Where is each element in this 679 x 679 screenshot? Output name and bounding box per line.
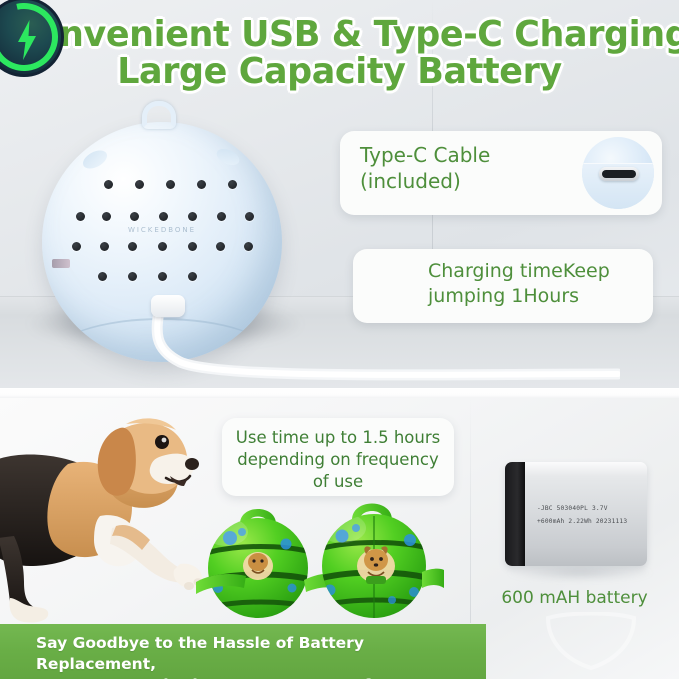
ball-hole <box>159 212 168 221</box>
section-divider <box>0 388 679 398</box>
lightning-bolt-glyph <box>15 20 39 60</box>
cable-plug <box>151 295 185 317</box>
ball-hole <box>98 272 107 281</box>
ball-hole <box>244 242 253 251</box>
ball-hole <box>188 212 197 221</box>
ball-hole <box>188 242 197 251</box>
ball-hole <box>104 180 113 189</box>
type-c-line-2: (included) <box>360 169 560 195</box>
top-section: WICKEDBONE Convenient USB & Type-C Charg… <box>0 0 679 388</box>
ball-hole <box>100 242 109 251</box>
ball-hole <box>76 212 85 221</box>
use-time-line-1: Use time up to 1.5 hours <box>232 427 444 449</box>
ball-hole <box>158 242 167 251</box>
battery-label-text: -JBC 503040PL 3.7V +600mAh 2.22Wh 202311… <box>537 502 643 528</box>
ball-hole <box>188 272 197 281</box>
ball-hole <box>128 272 137 281</box>
ball-hole <box>228 180 237 189</box>
charging-card-text: Charging timeKeep jumping 1Hours <box>428 259 643 308</box>
banner-line-2: Common Standard USB &Type-C Interface <box>36 675 486 679</box>
usb-c-port-opening <box>602 170 636 178</box>
page-title: Convenient USB & Type-C Charging Large C… <box>0 16 679 90</box>
ball-hole <box>245 212 254 221</box>
ball-hole <box>128 242 137 251</box>
ball-hole <box>166 180 175 189</box>
type-c-card-text: Type-C Cable (included) <box>360 143 560 194</box>
ball-hanging-loop <box>142 101 176 129</box>
ball-hole <box>130 212 139 221</box>
use-time-text: Use time up to 1.5 hours depending on fr… <box>222 418 454 493</box>
bottom-banner: Say Goodbye to the Hassle of Battery Rep… <box>0 624 486 679</box>
battery-terminal-strip <box>505 462 525 566</box>
use-time-line-2: depending on frequency <box>232 449 444 471</box>
charging-line-1: Charging timeKeep <box>428 259 643 284</box>
battery-shadow <box>505 565 655 581</box>
ball-hole <box>72 242 81 251</box>
battery-label-line-1: -JBC 503040PL 3.7V <box>537 502 643 515</box>
banner-line-1: Say Goodbye to the Hassle of Battery Rep… <box>36 633 486 675</box>
type-c-line-1: Type-C Cable <box>360 143 560 169</box>
title-line-2: Large Capacity Battery <box>10 53 669 90</box>
ball-hole <box>217 212 226 221</box>
infographic-page: WICKEDBONE Convenient USB & Type-C Charg… <box>0 0 679 679</box>
green-toy-balls <box>196 496 444 624</box>
ball-hole <box>135 180 144 189</box>
card-type-c-cable: Type-C Cable (included) <box>340 131 662 215</box>
title-line-1: Convenient USB & Type-C Charging <box>10 16 669 53</box>
battery-photo: -JBC 503040PL 3.7V +600mAh 2.22Wh 202311… <box>505 462 647 566</box>
ball-hole <box>158 272 167 281</box>
banner-text: Say Goodbye to the Hassle of Battery Rep… <box>0 624 486 679</box>
charging-line-2: jumping 1Hours <box>428 284 643 309</box>
use-time-line-3: of use <box>232 471 444 493</box>
ball-hole <box>216 242 225 251</box>
battery-label-line-2: +600mAh 2.22Wh 20231113 <box>537 515 643 528</box>
ball-hole <box>102 212 111 221</box>
usb-c-port-photo <box>582 137 654 209</box>
ball-hole <box>197 180 206 189</box>
usb-c-port-icon <box>599 167 639 181</box>
card-charging-time: Charging timeKeep jumping 1Hours <box>353 249 653 323</box>
battery-caption: 600 mAH battery <box>470 588 679 608</box>
brand-watermark-icon <box>536 612 646 672</box>
card-use-time: Use time up to 1.5 hours depending on fr… <box>222 418 454 496</box>
